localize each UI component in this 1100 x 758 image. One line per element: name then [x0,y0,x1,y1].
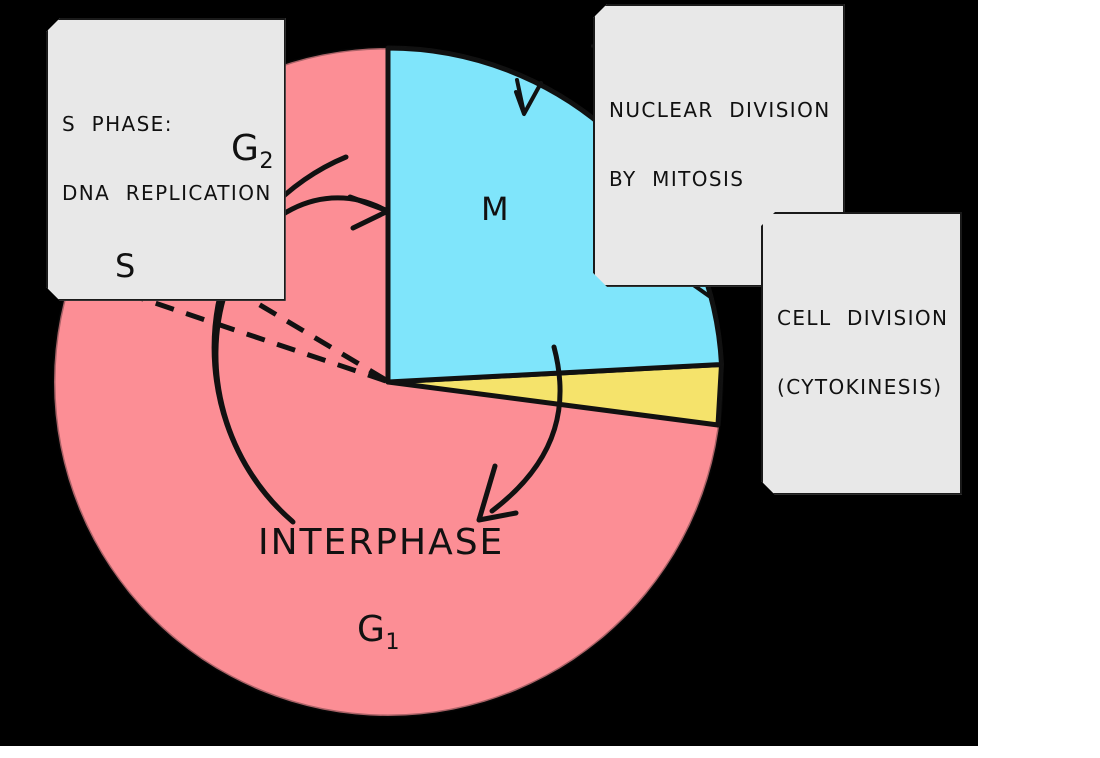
sector-label-s: S [115,247,135,285]
sector-label-m: M [481,190,509,228]
callout-nuclear-division-line1: NUCLEAR DIVISION [609,97,831,123]
callout-s-phase-line2: DNA REPLICATION [62,180,272,206]
sector-label-g2-text: G [231,128,259,169]
sector-label-g1-subscript: 1 [385,629,399,655]
callout-cell-division-line1: CELL DIVISION [777,305,948,331]
sector-label-g1: G1 [357,609,400,655]
callout-nuclear-division-line2: BY MITOSIS [609,166,831,192]
callout-cell-division-line2: (CYTOKINESIS) [777,374,948,400]
callout-cell-division[interactable]: CELL DIVISION (CYTOKINESIS) [761,212,962,495]
sector-label-g2-subscript: 2 [259,148,273,174]
cell-cycle-diagram-page: S PHASE: DNA REPLICATION NUCLEAR DIVISIO… [0,0,1100,758]
sector-label-interphase: INTERPHASE [258,522,504,563]
sector-label-g2: G2 [231,128,274,174]
sector-label-g1-text: G [357,609,385,650]
